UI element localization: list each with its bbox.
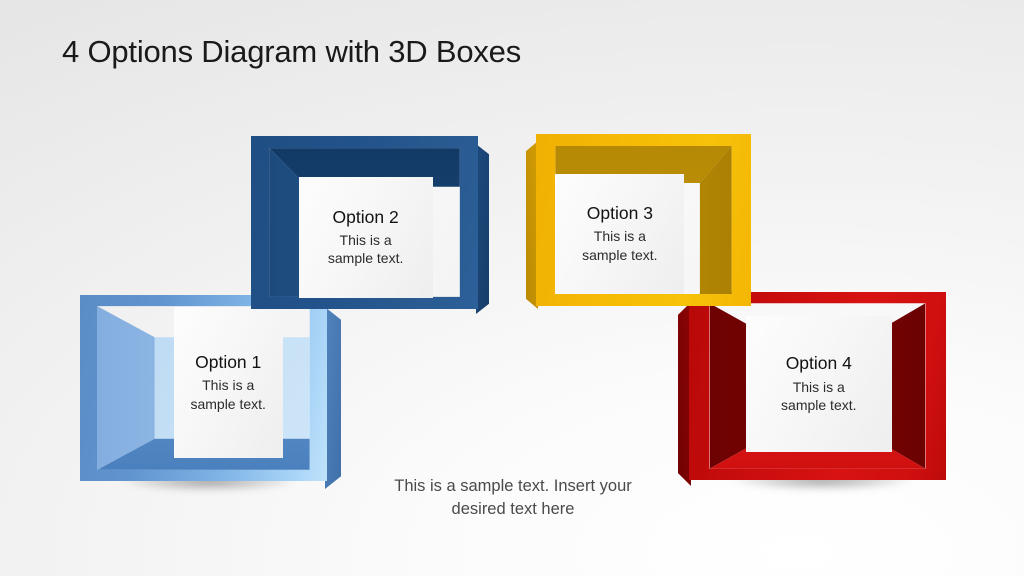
option-card-3[interactable]: Option 3 This is a sample text. (555, 174, 684, 294)
slide-caption[interactable]: This is a sample text. Insert your desir… (368, 475, 658, 522)
option-desc-line2-1: sample text. (190, 395, 265, 413)
slide-canvas: 4 Options Diagram with 3D Boxes Option 1… (0, 0, 1024, 576)
option-card-2[interactable]: Option 2 This is a sample text. (299, 177, 433, 298)
option-title-1: Option 1 (195, 352, 261, 373)
option-desc-line2-3: sample text. (582, 246, 657, 264)
option-desc-line1-3: This is a (594, 227, 646, 245)
option-desc-line2-2: sample text. (328, 249, 403, 267)
page-title: 4 Options Diagram with 3D Boxes (62, 34, 521, 70)
option-box-2[interactable]: Option 2 This is a sample text. (251, 136, 478, 309)
option-desc-line1-1: This is a (202, 376, 254, 394)
option-title-4: Option 4 (786, 353, 852, 374)
option-title-3: Option 3 (587, 203, 653, 224)
option-box-1[interactable]: Option 1 This is a sample text. (80, 295, 327, 481)
option-desc-line1-4: This is a (793, 378, 845, 396)
option-desc-line2-4: sample text. (781, 396, 856, 414)
option-title-2: Option 2 (333, 207, 399, 228)
option-card-4[interactable]: Option 4 This is a sample text. (746, 316, 892, 451)
box-depth-edge-1 (325, 307, 341, 489)
option-desc-line1-2: This is a (340, 231, 392, 249)
option-box-4[interactable]: Option 4 This is a sample text. (689, 292, 946, 480)
option-box-3[interactable]: Option 3 This is a sample text. (536, 134, 751, 306)
option-card-1[interactable]: Option 1 This is a sample text. (174, 307, 283, 458)
